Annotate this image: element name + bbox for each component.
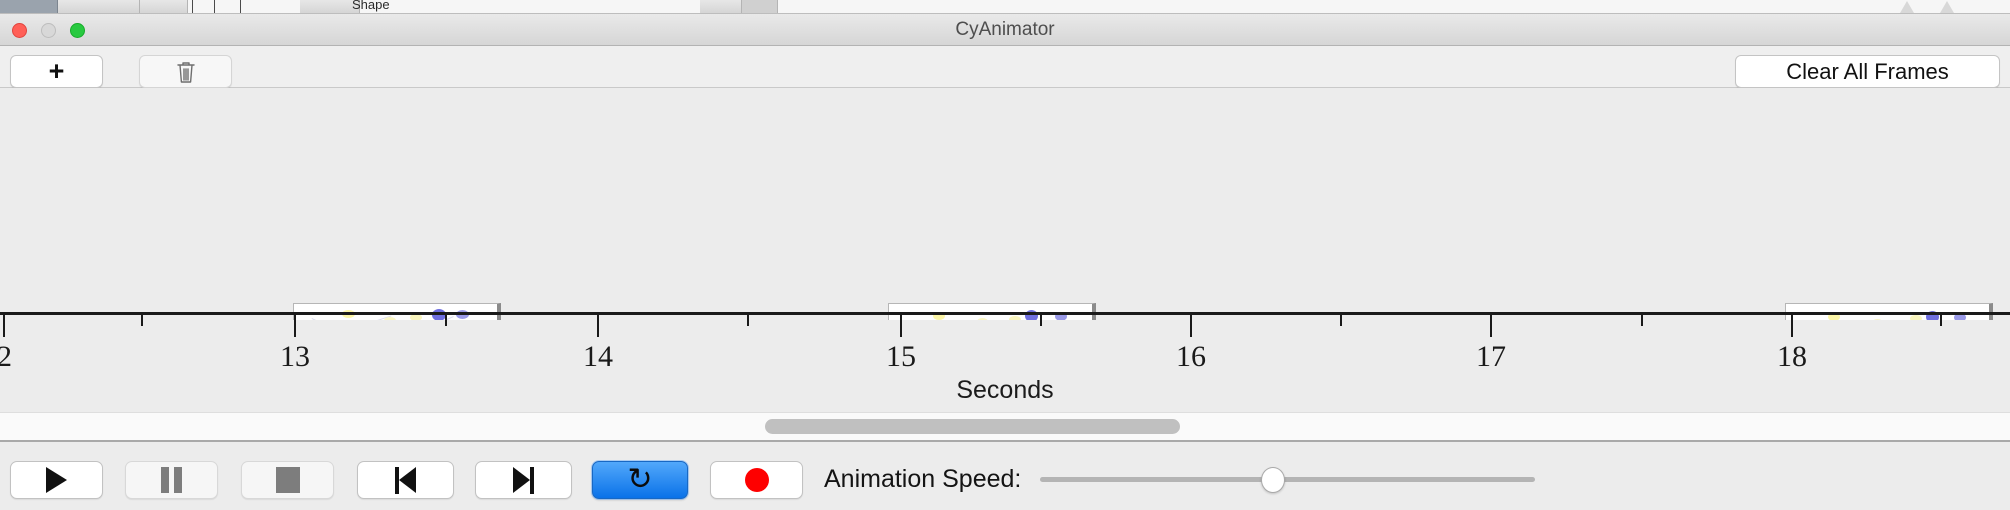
axis-tick-label: 16	[1176, 340, 1206, 374]
axis-tick-major	[1190, 315, 1192, 337]
axis-tick-minor	[747, 315, 749, 326]
background-app-label: Shape	[352, 0, 390, 12]
loop-icon: ↻	[627, 465, 652, 495]
play-button[interactable]	[10, 461, 103, 499]
axis-tick-minor	[1040, 315, 1042, 326]
axis-title: Seconds	[0, 376, 2010, 405]
axis-tick-major	[294, 315, 296, 337]
top-toolbar	[0, 46, 2010, 88]
axis-tick-minor	[141, 315, 143, 326]
bg-tick	[214, 0, 215, 14]
bg-tick	[192, 0, 193, 14]
bg-chip	[742, 0, 778, 14]
axis-tick-label: 12	[0, 340, 12, 374]
bg-chip	[0, 0, 58, 14]
pause-button[interactable]	[125, 461, 218, 499]
add-frame-button[interactable]: +	[10, 55, 103, 88]
animation-speed-slider[interactable]	[1040, 477, 1535, 482]
cyanimator-window: Shape CyAnimator + Clear All Frames	[0, 0, 2010, 510]
timeline-axis	[0, 312, 2010, 315]
animation-speed-label: Animation Speed:	[824, 465, 1021, 494]
axis-tick-minor	[1641, 315, 1643, 326]
title-bar[interactable]: CyAnimator	[0, 14, 2010, 46]
record-button[interactable]	[710, 461, 803, 499]
record-icon	[745, 468, 769, 492]
background-app-strip: Shape	[0, 0, 2010, 14]
stop-button[interactable]	[241, 461, 334, 499]
bg-triangle	[1900, 1, 1914, 13]
axis-tick-major	[1490, 315, 1492, 337]
axis-tick-minor	[1940, 315, 1942, 326]
axis-tick-major	[1791, 315, 1793, 337]
bg-triangle	[1940, 1, 1954, 13]
axis-tick-major	[597, 315, 599, 337]
play-icon	[46, 467, 67, 493]
pause-icon	[161, 467, 182, 493]
bg-chip	[58, 0, 140, 14]
stop-icon	[276, 467, 300, 493]
axis-tick-major	[900, 315, 902, 337]
bg-chip	[140, 0, 188, 14]
axis-tick-label: 18	[1777, 340, 1807, 374]
axis-tick-label: 14	[583, 340, 613, 374]
window-title: CyAnimator	[0, 14, 2010, 46]
skip-back-icon	[395, 467, 416, 494]
loop-button[interactable]: ↻	[592, 461, 688, 499]
timeline-scrollbar[interactable]	[0, 412, 2010, 440]
plus-icon: +	[49, 58, 65, 85]
timeline-frames-area[interactable]: MCM1	[0, 88, 2010, 320]
axis-tick-minor	[445, 315, 447, 326]
axis-tick-major	[3, 315, 5, 337]
next-frame-button[interactable]	[475, 461, 572, 499]
bg-chip	[700, 0, 742, 14]
delete-frame-button[interactable]	[139, 55, 232, 88]
clear-all-frames-button[interactable]: Clear All Frames	[1735, 55, 2000, 88]
animation-speed-thumb[interactable]	[1261, 467, 1285, 493]
scrollbar-thumb[interactable]	[765, 419, 1180, 434]
axis-tick-label: 13	[280, 340, 310, 374]
previous-frame-button[interactable]	[357, 461, 454, 499]
axis-tick-minor	[1340, 315, 1342, 326]
skip-forward-icon	[513, 467, 534, 494]
trash-icon	[176, 60, 196, 84]
axis-tick-label: 15	[886, 340, 916, 374]
bg-tick	[240, 0, 241, 14]
bg-chip	[300, 0, 360, 14]
axis-tick-label: 17	[1476, 340, 1506, 374]
